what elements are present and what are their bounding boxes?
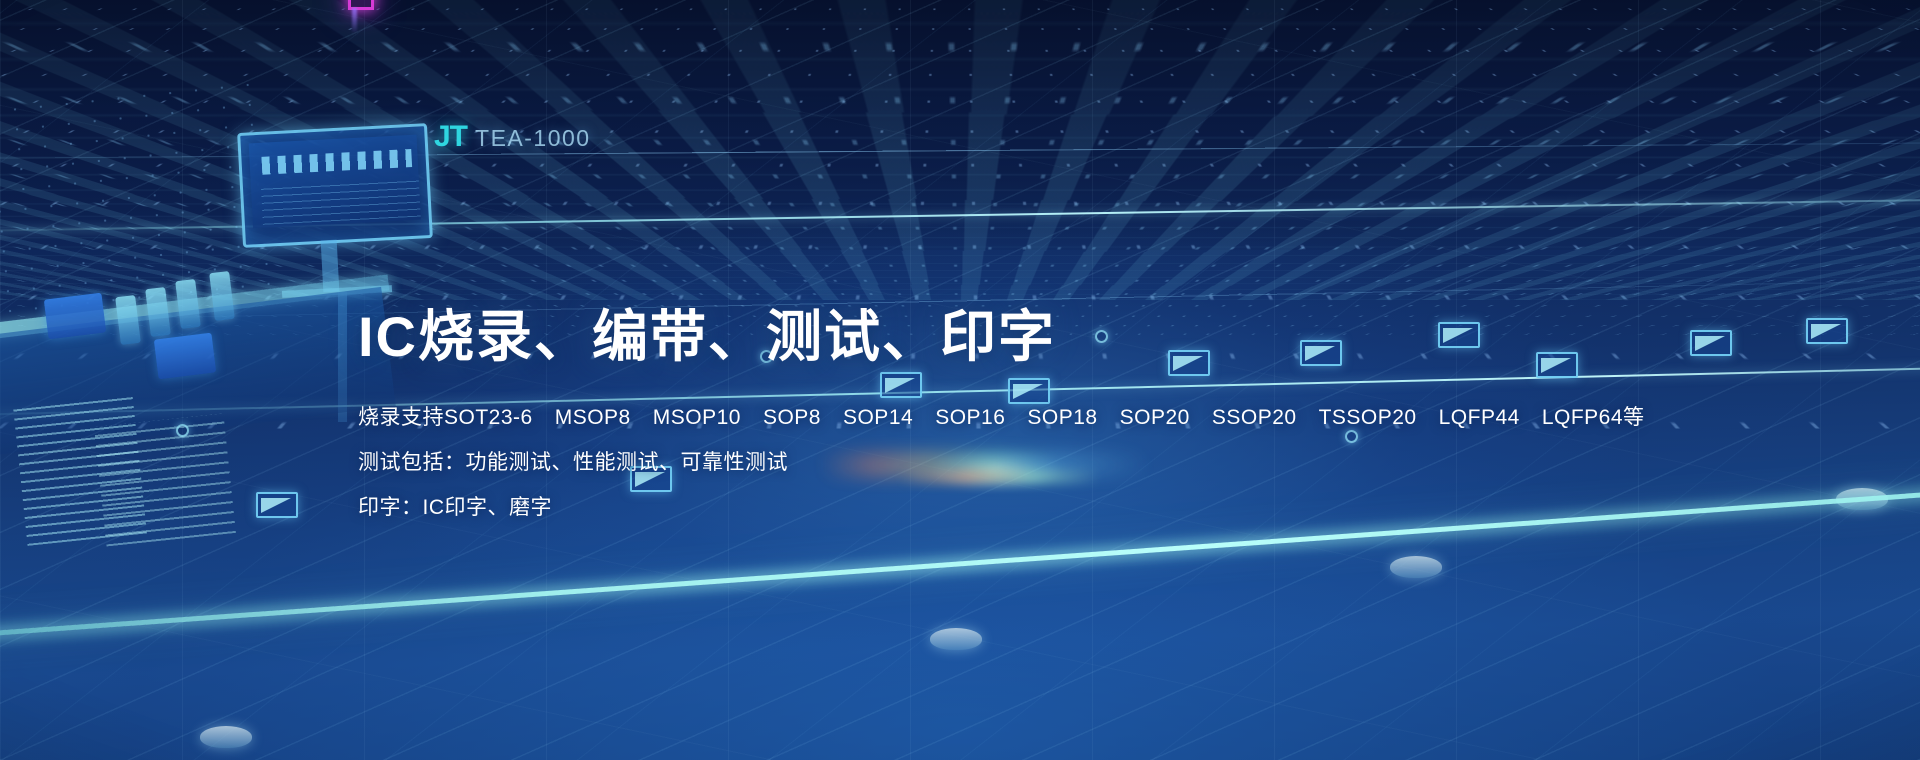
monitor-screen xyxy=(249,135,421,229)
floor-clamp-icon-3 xyxy=(1390,556,1442,578)
package-sop16: SOP16 xyxy=(935,407,1005,428)
ic-service-banner: JT TEA-1000 IC烧录、编带、测试、印字 烧录支持SOT23-6 MS… xyxy=(0,0,1920,760)
pneumatic-cylinder-3 xyxy=(175,279,201,329)
brand-mark: JT xyxy=(434,120,467,154)
monitor-support-pole xyxy=(338,292,347,422)
package-ssop20: SSOP20 xyxy=(1212,407,1297,428)
page-title: IC烧录、编带、测试、印字 xyxy=(358,306,1618,369)
monitor-chip-row xyxy=(261,149,412,175)
package-msop10: MSOP10 xyxy=(653,407,741,428)
floor-clamp-icon-1 xyxy=(200,726,252,748)
pneumatic-cylinder-2 xyxy=(145,287,171,337)
equipment-rack-back xyxy=(94,414,236,547)
monitor-base-shelf xyxy=(282,285,392,298)
node-dot-4 xyxy=(176,424,189,437)
package-support-lead: 烧录支持SOT23-6 xyxy=(358,407,533,428)
banner-copy-block: IC烧录、编带、测试、印字 烧录支持SOT23-6 MSOP8 MSOP10 S… xyxy=(358,306,1618,542)
floating-monitor-icon-8 xyxy=(1806,318,1848,344)
marking-service-line: 印字：IC印字、磨字 xyxy=(358,497,1618,518)
pneumatic-cylinder-4 xyxy=(209,271,235,321)
package-tssop20: TSSOP20 xyxy=(1319,407,1417,428)
floor-clamp-icon-2 xyxy=(930,628,982,650)
equipment-rack-front xyxy=(13,394,147,546)
magenta-accent-beam xyxy=(352,8,357,34)
light-rail-upper xyxy=(0,141,1920,160)
floating-monitor-icon-9 xyxy=(256,492,298,518)
machine-brand-logo: JT TEA-1000 xyxy=(434,120,591,154)
package-sop20: SOP20 xyxy=(1120,407,1190,428)
package-sop8: SOP8 xyxy=(763,407,821,428)
service-detail-list: 烧录支持SOT23-6 MSOP8 MSOP10 SOP8 SOP14 SOP1… xyxy=(358,407,1618,518)
package-msop8: MSOP8 xyxy=(555,407,631,428)
monitor-neck xyxy=(321,240,340,293)
package-lqfp44: LQFP44 xyxy=(1439,407,1520,428)
machine-model-label: TEA-1000 xyxy=(475,125,591,152)
ceiling-gradient-layer xyxy=(0,0,1920,250)
package-lqfp64: LQFP64等 xyxy=(1542,407,1645,428)
workstation-monitor-icon xyxy=(237,123,433,248)
machine-module-left xyxy=(44,293,106,340)
package-sop14: SOP14 xyxy=(843,407,913,428)
machine-module-mid xyxy=(154,333,216,380)
package-support-line: 烧录支持SOT23-6 MSOP8 MSOP10 SOP8 SOP14 SOP1… xyxy=(358,407,1618,428)
testing-scope-line: 测试包括：功能测试、性能测试、可靠性测试 xyxy=(358,452,1618,473)
light-rail-main xyxy=(0,196,1920,234)
monitor-line-rows xyxy=(261,177,421,225)
pneumatic-cylinder-1 xyxy=(115,295,141,345)
package-sop18: SOP18 xyxy=(1027,407,1097,428)
floor-circuit-layer xyxy=(0,0,1920,300)
floating-monitor-icon-7 xyxy=(1690,330,1732,356)
